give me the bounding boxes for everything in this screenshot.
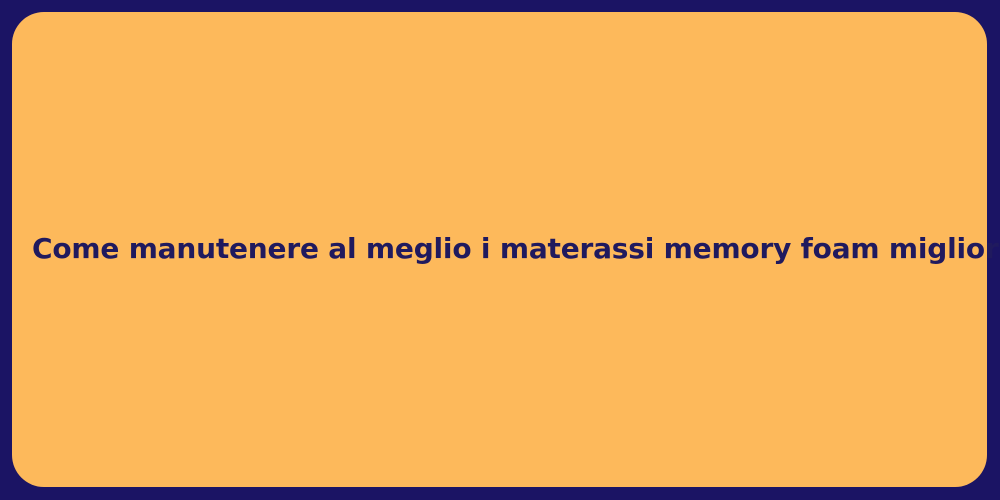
question-card-panel: Come manutenere al meglio i materassi me…: [12, 12, 987, 487]
question-card-frame: Come manutenere al meglio i materassi me…: [0, 0, 1000, 500]
question-heading: Come manutenere al meglio i materassi me…: [32, 231, 1000, 267]
